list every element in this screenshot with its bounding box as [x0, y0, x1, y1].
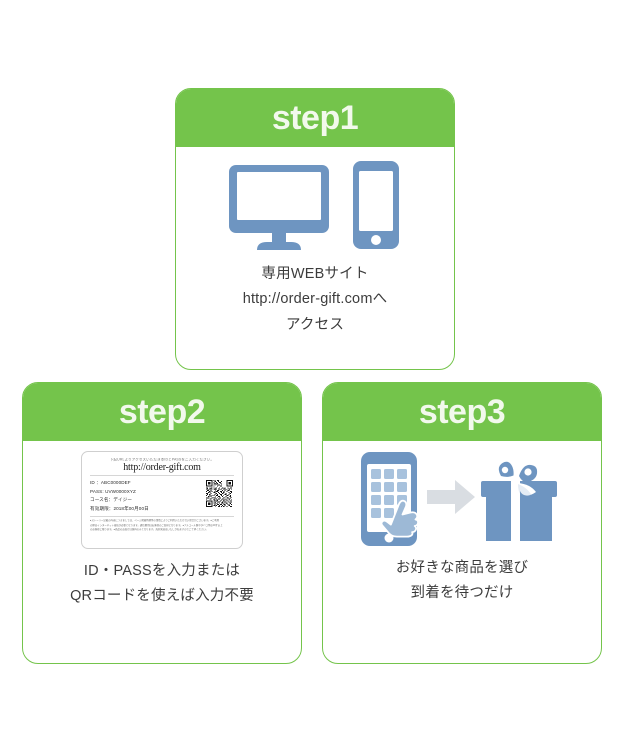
smartphone-icon	[353, 161, 399, 249]
gift-card-icon: 下記URLよりアクセスいただき本IDとPASSをご入力ください。 http://…	[81, 451, 243, 549]
step-2-caption: ID・PASSを入力または QRコードを使えば入力不要	[23, 559, 301, 610]
step-1-title: step1	[272, 101, 358, 135]
arrow-right-icon	[427, 480, 475, 514]
step-2-caption-line-1: ID・PASSを入力または	[23, 559, 301, 584]
smartphone-tap-icon	[361, 452, 418, 546]
gift-card-fine-line-3: のお客様に限ります。●商品のお届けは国内のみとなります。海外発送はいたしかねます…	[90, 528, 234, 533]
step-card-3: step3	[322, 382, 602, 664]
step-1-icon-area	[176, 147, 454, 262]
steps-container: step1	[0, 0, 625, 750]
step-1-caption-line-3: アクセス	[176, 313, 454, 338]
step-2-body: 下記URLよりアクセスいただき本IDとPASSをご入力ください。 http://…	[23, 441, 301, 663]
gift-card-field-expiry: 有効期限：2018年00月00日	[90, 505, 149, 513]
step-3-body: お好きな商品を選び 到着を待つだけ	[323, 441, 601, 663]
step-1-caption-line-2: http://order-gift.comへ	[176, 287, 454, 312]
step-2-header: step2	[23, 383, 301, 441]
gift-card-fine-print: ●ストーリー記載の内容につきましては、ページ掲載時期等の事情によりご利用いただけ…	[90, 519, 234, 533]
step-3-caption-line-2: 到着を待つだけ	[323, 581, 601, 606]
gift-card-url: http://order-gift.com	[90, 462, 234, 473]
gift-card-fine-line-1: ●ストーリー記載の内容につきましては、ページ掲載時期等の事情によりご利用いただけ…	[90, 519, 234, 524]
step-1-caption: 専用WEBサイト http://order-gift.comへ アクセス	[176, 262, 454, 338]
step-card-1: step1	[175, 88, 455, 370]
desktop-monitor-icon	[229, 165, 329, 250]
qr-code-icon	[206, 480, 233, 507]
step-2-caption-line-2: QRコードを使えば入力不要	[23, 584, 301, 609]
step-3-caption: お好きな商品を選び 到着を待つだけ	[323, 556, 601, 607]
gift-card-tagline: 下記URLよりアクセスいただき本IDとPASSをご入力ください。	[65, 458, 259, 462]
gift-card-divider-2	[90, 516, 234, 517]
step-3-flow-icons	[355, 448, 570, 550]
gift-card-field-id: ID ：ABC0000DEF	[90, 479, 149, 487]
gift-card-divider	[90, 475, 234, 476]
step-1-device-icons	[225, 155, 405, 255]
step-1-body: 専用WEBサイト http://order-gift.comへ アクセス	[176, 147, 454, 369]
gift-card-fields: ID ：ABC0000DEF PASS: UVW0000XYZ コース名：デイジ…	[90, 479, 149, 513]
step-3-header: step3	[323, 383, 601, 441]
step-3-title: step3	[419, 395, 505, 429]
gift-card-field-course: コース名：デイジー	[90, 496, 149, 504]
step-2-title: step2	[119, 395, 205, 429]
gift-card-field-pass: PASS: UVW0000XYZ	[90, 488, 149, 496]
step-3-icon-area	[323, 441, 601, 556]
gift-card-middle: ID ：ABC0000DEF PASS: UVW0000XYZ コース名：デイジ…	[90, 479, 234, 513]
step-2-icon-area: 下記URLよりアクセスいただき本IDとPASSをご入力ください。 http://…	[23, 441, 301, 559]
gift-box-icon	[481, 461, 557, 540]
step-1-header: step1	[176, 89, 454, 147]
step-3-caption-line-1: お好きな商品を選び	[323, 556, 601, 581]
step-1-caption-line-1: 専用WEBサイト	[176, 262, 454, 287]
step-card-2: step2 下記URLよりアクセスいただき本IDとPASSをご入力ください。 h…	[22, 382, 302, 664]
